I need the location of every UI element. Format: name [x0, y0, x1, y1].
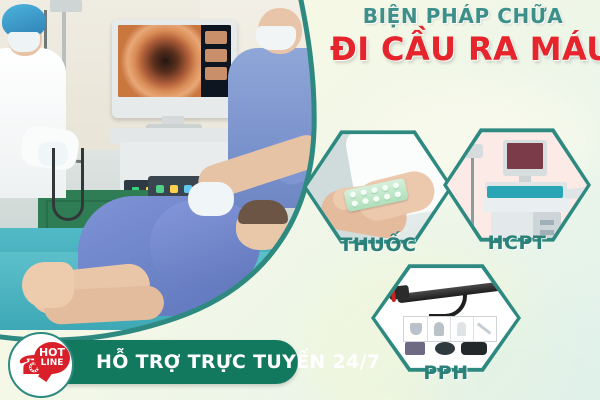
- photo-assistant-mask: [256, 26, 296, 50]
- method-label-hcpt: HCPT: [437, 232, 597, 254]
- pph-dilator-head: [405, 342, 425, 355]
- hotline-text: HỖ TRỢ TRỰC TUYẾN 24/7: [96, 351, 380, 373]
- photo-endoscope-tube: [52, 148, 84, 221]
- photo-patient-hair: [238, 200, 288, 224]
- promo-banner: BIỆN PHÁP CHỮA ĐI CẦU RA MÁU: [0, 0, 600, 400]
- headline-block: BIỆN PHÁP CHỮA ĐI CẦU RA MÁU: [330, 4, 596, 68]
- photo-surgeon-glove: [188, 182, 234, 216]
- photo-monitor-sidebar: [201, 25, 231, 97]
- method-label-thuoc: THUỐC: [298, 234, 458, 256]
- pph-accessory-tray: [403, 316, 497, 342]
- hcpt-cart-desk: [483, 198, 569, 212]
- hcpt-monitor-screen: [507, 143, 543, 169]
- photo-monitor-screen: [118, 25, 231, 97]
- hotline-pill[interactable]: HỖ TRỢ TRỰC TUYẾN 24/7: [36, 340, 298, 384]
- hotline-badge-bottom-label: LINE: [34, 358, 70, 368]
- headline-subtitle: BIỆN PHÁP CHỮA: [330, 4, 596, 28]
- photo-patient-foot: [22, 262, 74, 308]
- hotline-speech-bubble: HOT LINE: [34, 342, 70, 374]
- pph-anoscope-ring: [435, 342, 455, 355]
- method-label-pph: PPH: [366, 362, 526, 384]
- pph-anoscope-tube: [461, 342, 487, 355]
- hcpt-camera-pole: [471, 152, 474, 240]
- endoscopy-procedure-photo: [0, 0, 330, 330]
- headline-title: ĐI CẦU RA MÁU: [330, 30, 596, 68]
- hotline-badge[interactable]: ☎ HOT LINE: [8, 332, 74, 398]
- photo-doctor-mask: [8, 32, 40, 52]
- hcpt-control-keypad: [487, 186, 563, 198]
